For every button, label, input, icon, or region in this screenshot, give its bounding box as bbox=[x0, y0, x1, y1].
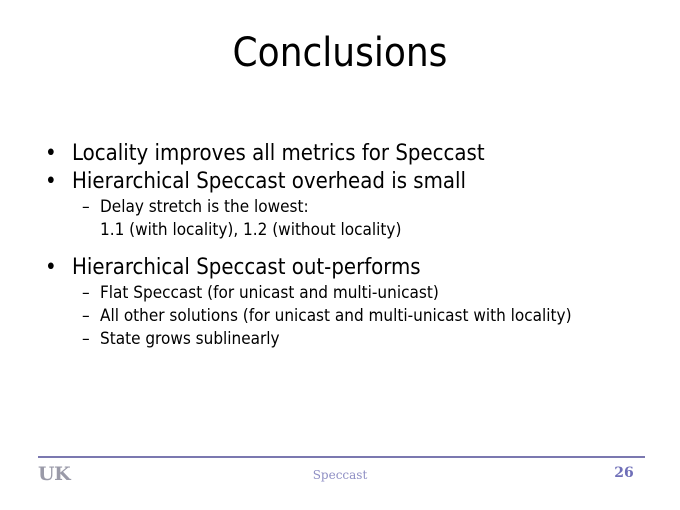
bullet-item-level1: • Hierarchical Speccast overhead is smal… bbox=[36, 168, 656, 196]
bullet-item-level1: • Hierarchical Speccast out-performs bbox=[36, 254, 656, 282]
bullet-text: Hierarchical Speccast out-performs bbox=[72, 255, 421, 280]
slide-footer: UK Speccast 26 bbox=[0, 450, 680, 510]
slide-title: Conclusions bbox=[0, 30, 680, 76]
bullet-item-level2: – Delay stretch is the lowest: bbox=[36, 196, 656, 219]
bullet-text: Hierarchical Speccast overhead is small bbox=[72, 169, 466, 194]
bullet-item-level2: – All other solutions (for unicast and m… bbox=[36, 305, 656, 328]
slide-body-bullet-list: • Locality improves all metrics for Spec… bbox=[36, 140, 656, 351]
bullet-text: All other solutions (for unicast and mul… bbox=[100, 306, 572, 326]
bullet-marker-dash: – bbox=[82, 328, 100, 351]
bullet-marker-dash: – bbox=[82, 282, 100, 305]
bullet-marker-dot: • bbox=[45, 168, 65, 196]
bullet-text: State grows sublinearly bbox=[100, 329, 280, 349]
bullet-marker-dash: – bbox=[82, 196, 100, 219]
slide-page-number: 26 bbox=[600, 464, 648, 482]
bullet-item-level2-continuation: 1.1 (with locality), 1.2 (without locali… bbox=[36, 219, 656, 242]
bullet-text: Flat Speccast (for unicast and multi-uni… bbox=[100, 283, 439, 303]
footer-title-text: Speccast bbox=[0, 467, 680, 483]
bullet-text: Locality improves all metrics for Specca… bbox=[72, 141, 485, 166]
bullet-text: Delay stretch is the lowest: bbox=[100, 197, 309, 217]
bullet-item-level2: – State grows sublinearly bbox=[36, 328, 656, 351]
bullet-text: 1.1 (with locality), 1.2 (without locali… bbox=[100, 220, 401, 240]
presentation-slide: Conclusions • Locality improves all metr… bbox=[0, 0, 680, 510]
footer-divider-line bbox=[38, 456, 645, 458]
bullet-item-level2: – Flat Speccast (for unicast and multi-u… bbox=[36, 282, 656, 305]
bullet-marker-dash: – bbox=[82, 305, 100, 328]
bullet-marker-dot: • bbox=[45, 254, 65, 282]
bullet-marker-dot: • bbox=[45, 140, 65, 168]
bullet-item-level1: • Locality improves all metrics for Spec… bbox=[36, 140, 656, 168]
